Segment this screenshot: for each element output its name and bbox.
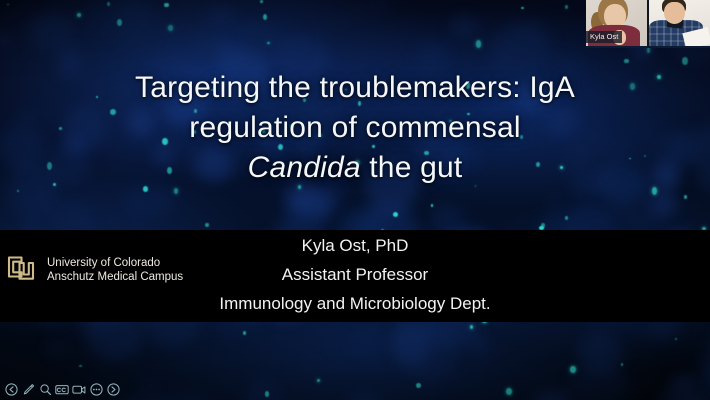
back-button[interactable]: [4, 382, 18, 396]
title-line-1: Targeting the troublemakers: IgA: [0, 68, 710, 108]
speaker-tile-right[interactable]: [648, 0, 710, 47]
player-toolbar[interactable]: [4, 382, 120, 396]
university-logo-text: University of Colorado Anschutz Medical …: [47, 256, 183, 284]
slide-title: Targeting the troublemakers: IgA regulat…: [0, 68, 710, 188]
arrow-left-circle-icon: [5, 383, 18, 396]
video-overlay[interactable]: Kyla Ost: [586, 0, 710, 47]
video-button[interactable]: [72, 382, 86, 396]
participant-name-label: Kyla Ost: [586, 31, 622, 44]
video-camera-icon: [72, 383, 86, 396]
byline-department: Immunology and Microbiology Dept.: [0, 289, 710, 318]
more-button[interactable]: [89, 382, 103, 396]
title-line-3: Candida the gut: [0, 148, 710, 188]
university-logo: University of Colorado Anschutz Medical …: [6, 253, 183, 287]
title-line-3-rest: the gut: [361, 151, 463, 184]
magnifier-icon: [39, 383, 52, 396]
closed-caption-icon: [55, 383, 69, 396]
pen-icon: [22, 383, 35, 396]
title-line-2: regulation of commensal: [0, 108, 710, 148]
forward-button[interactable]: [106, 382, 120, 396]
zoom-button[interactable]: [38, 382, 52, 396]
background-specks: [0, 0, 710, 400]
speaker-right-face: [664, 2, 685, 24]
captions-button[interactable]: [55, 382, 69, 396]
arrow-right-circle-icon: [107, 383, 120, 396]
title-italic-species: Candida: [248, 151, 361, 184]
cu-monogram-icon: [6, 253, 40, 287]
ellipsis-circle-icon: [90, 383, 103, 396]
annotate-button[interactable]: [21, 382, 35, 396]
university-logo-line-1: University of Colorado: [47, 256, 183, 270]
presentation-viewer: Targeting the troublemakers: IgA regulat…: [0, 0, 710, 400]
university-logo-line-2: Anschutz Medical Campus: [47, 270, 183, 284]
